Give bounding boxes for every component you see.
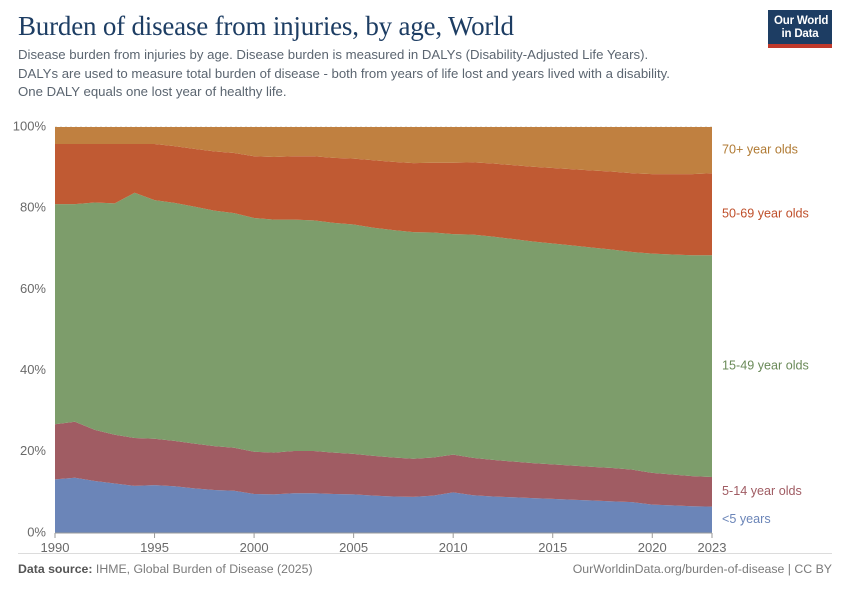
data-source: Data source: IHME, Global Burden of Dise… [18,562,313,576]
series-inline-labels: <5 years5-14 year olds15-49 year olds50-… [722,142,809,526]
y-axis-tick-label: 0% [27,524,46,539]
y-axis-tick-label: 20% [20,443,46,458]
subtitle-line-2: DALYs are used to measure total burden o… [18,65,778,84]
y-axis-tick-labels: 0%20%40%60%80%100% [13,118,47,539]
chart-subtitle: Disease burden from injuries by age. Dis… [18,46,778,102]
page-title: Burden of disease from injuries, by age,… [18,10,832,42]
series-label-70-year-olds[interactable]: 70+ year olds [722,142,798,156]
owid-logo-line-2: in Data [774,28,826,41]
series-label-15-49-year-olds[interactable]: 15-49 year olds [722,358,809,372]
y-axis-tick-label: 60% [20,281,46,296]
data-source-label: Data source: [18,562,93,576]
owid-logo-line-1: Our World [774,15,826,28]
owid-chart-page: Burden of disease from injuries, by age,… [0,0,850,600]
license-link[interactable]: OurWorldinData.org/burden-of-disease | C… [573,562,832,576]
chart-footer: Data source: IHME, Global Burden of Dise… [18,553,832,588]
subtitle-line-1: Disease burden from injuries by age. Dis… [18,46,778,65]
stacked-area-chart[interactable]: 0%20%40%60%80%100% 199019952000200520102… [0,112,850,562]
chart-axes [55,533,712,538]
series-label-5-14-year-olds[interactable]: 5-14 year olds [722,484,802,498]
series-label-50-69-year-olds[interactable]: 50-69 year olds [722,207,809,221]
y-axis-tick-label: 100% [13,118,47,133]
owid-logo[interactable]: Our World in Data [768,10,832,48]
chart-container[interactable]: 0%20%40%60%80%100% 199019952000200520102… [0,112,850,562]
y-axis-tick-label: 80% [20,200,46,215]
subtitle-line-3: One DALY equals one lost year of healthy… [18,83,778,102]
data-source-value: IHME, Global Burden of Disease (2025) [93,562,313,576]
y-axis-tick-label: 40% [20,362,46,377]
series-label-5-years[interactable]: <5 years [722,512,771,526]
chart-header: Burden of disease from injuries, by age,… [18,10,832,102]
chart-area-series [55,127,712,533]
